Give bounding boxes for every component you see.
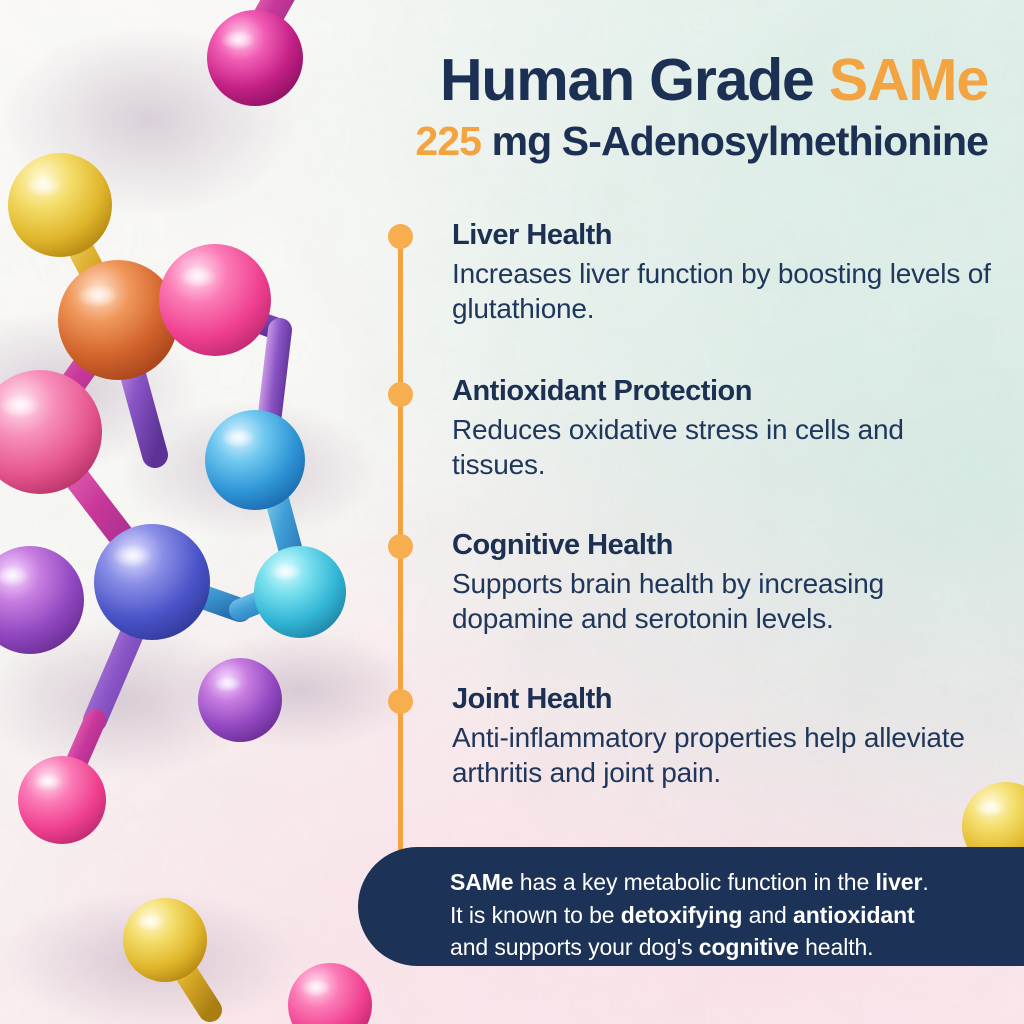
- benefit-title: Liver Health: [452, 220, 992, 252]
- timeline-dot-1: [388, 224, 413, 249]
- benefit-title: Joint Health: [452, 684, 992, 716]
- list-item: Joint Health Anti-inflammatory propertie…: [452, 684, 992, 790]
- subtitle-dose: 225: [415, 118, 481, 164]
- callout-line3-start: and supports your dog's: [450, 934, 699, 960]
- callout-line1-mid: has a key metabolic function in the: [514, 869, 876, 895]
- callout-bold-detoxifying: detoxifying: [621, 902, 743, 928]
- summary-callout: SAMe has a key metabolic function in the…: [358, 847, 1024, 966]
- list-item: Cognitive Health Supports brain health b…: [452, 530, 992, 636]
- content-layer: Human Grade SAMe 225 mg S-Adenosylmethio…: [0, 0, 1024, 1024]
- callout-line3-end: health.: [799, 934, 874, 960]
- page-subtitle: 225 mg S-Adenosylmethionine: [360, 120, 988, 163]
- benefit-title: Antioxidant Protection: [452, 376, 992, 408]
- callout-line2-mid: and: [742, 902, 793, 928]
- subtitle-plain: mg S-Adenosylmethionine: [481, 118, 988, 164]
- callout-bold-antioxidant: antioxidant: [793, 902, 915, 928]
- timeline-dot-4: [388, 689, 413, 714]
- callout-bold-liver: liver: [875, 869, 922, 895]
- callout-bold-same: SAMe: [450, 869, 514, 895]
- benefit-body: Increases liver function by boosting lev…: [452, 256, 992, 327]
- benefit-title: Cognitive Health: [452, 530, 992, 562]
- page-title: Human Grade SAMe: [360, 50, 988, 110]
- benefit-body: Reduces oxidative stress in cells and ti…: [452, 412, 992, 483]
- list-item: Antioxidant Protection Reduces oxidative…: [452, 376, 992, 482]
- title-plain: Human Grade: [440, 47, 829, 113]
- callout-bold-cognitive: cognitive: [699, 934, 799, 960]
- timeline-dot-3: [388, 534, 413, 559]
- callout-text: SAMe has a key metabolic function in the…: [450, 866, 1016, 964]
- title-accent: SAMe: [829, 47, 988, 113]
- benefit-body: Anti-inflammatory properties help allevi…: [452, 720, 992, 791]
- callout-line2-start: It is known to be: [450, 902, 621, 928]
- list-item: Liver Health Increases liver function by…: [452, 220, 992, 326]
- timeline-dot-2: [388, 382, 413, 407]
- benefit-body: Supports brain health by increasing dopa…: [452, 566, 992, 637]
- infographic-poster: Human Grade SAMe 225 mg S-Adenosylmethio…: [0, 0, 1024, 1024]
- callout-line1-end: .: [922, 869, 928, 895]
